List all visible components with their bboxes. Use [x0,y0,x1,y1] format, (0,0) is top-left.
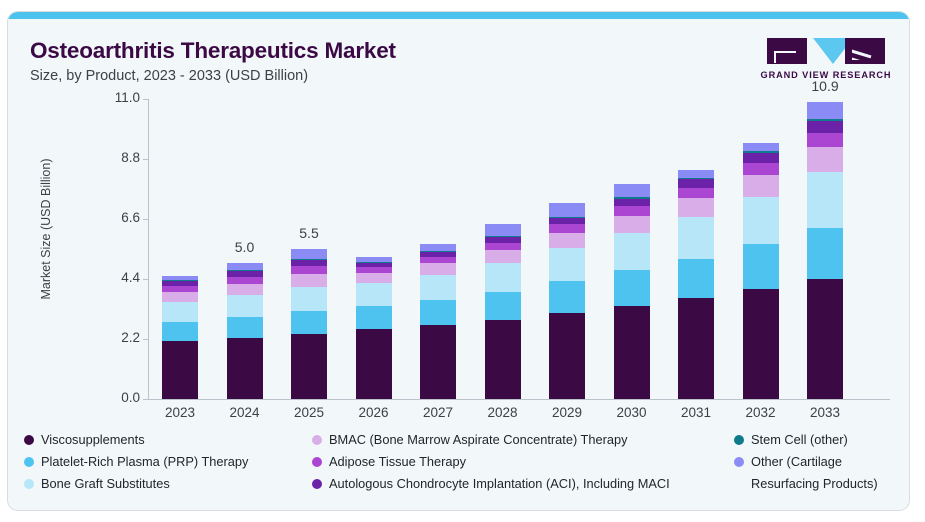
bar-segment[interactable] [291,334,327,399]
y-axis-tick-mark [143,159,149,160]
bar-segment[interactable] [356,306,392,329]
legend-item-label: Autologous Chondrocyte Implantation (ACI… [329,476,670,491]
bar-segment[interactable] [356,257,392,262]
bar-segment[interactable] [614,306,650,399]
legend-item-label: BMAC (Bone Marrow Aspirate Concentrate) … [329,432,627,447]
legend-color-dot [734,457,744,467]
bar-segment[interactable] [807,172,843,228]
bar-segment[interactable] [227,271,263,277]
legend-item-label: Viscosupplements [41,432,145,447]
y-axis-label: Market Size (USD Billion) [39,149,53,309]
bar-segment[interactable] [420,244,456,252]
legend-item-label: Resurfacing Products) [751,476,878,491]
y-axis-line [148,99,149,399]
legend-item-label: Stem Cell (other) [751,432,848,447]
bar-segment[interactable] [420,275,456,300]
bar-segment[interactable] [356,263,392,267]
legend-color-dot [24,479,34,489]
bar-segment[interactable] [678,179,714,187]
bar-segment[interactable] [678,217,714,258]
legend-color-dot [312,435,322,445]
bar-segment[interactable] [162,280,198,281]
bar-2024[interactable] [227,12,263,399]
y-axis-tick-label: 4.4 [82,270,140,285]
bar-segment[interactable] [227,295,263,317]
bar-segment[interactable] [614,197,650,198]
bar-segment[interactable] [549,281,585,313]
bar-2026[interactable] [356,12,392,399]
y-axis-tick-mark [143,279,149,280]
bar-segment[interactable] [807,279,843,399]
bar-2030[interactable] [614,12,650,399]
bar-value-label: 5.0 [215,239,275,255]
bar-segment[interactable] [420,263,456,274]
legend-color-dot [24,457,34,467]
bar-segment[interactable] [227,263,263,270]
bar-2027[interactable] [420,12,456,399]
bar-segment[interactable] [291,260,327,267]
bar-segment[interactable] [743,175,779,197]
chart-card: Osteoarthritis Therapeutics Market Size,… [8,12,909,510]
bar-segment[interactable] [162,281,198,285]
bar-segment[interactable] [356,283,392,306]
x-axis-tick-label: 2023 [150,405,210,420]
bar-segment[interactable] [678,170,714,178]
bar-segment[interactable] [485,250,521,263]
bar-segment[interactable] [807,121,843,133]
legend-item-label: Other (Cartilage [751,454,842,469]
bar-segment[interactable] [162,341,198,399]
bar-segment[interactable] [549,233,585,248]
x-axis-tick-label: 2030 [602,405,662,420]
x-axis-tick-label: 2028 [473,405,533,420]
y-axis-tick-label: 2.2 [82,330,140,345]
bar-segment[interactable] [678,198,714,217]
bar-segment[interactable] [807,119,843,121]
bar-segment[interactable] [162,276,198,280]
bar-segment[interactable] [614,233,650,270]
bar-segment[interactable] [291,311,327,333]
bar-segment[interactable] [291,287,327,312]
bar-segment[interactable] [485,292,521,320]
bar-segment[interactable] [227,338,263,399]
bar-segment[interactable] [420,251,456,252]
bar-2023[interactable] [162,12,198,399]
y-axis-tick-mark [143,399,149,400]
y-axis-tick-mark [143,219,149,220]
bar-segment[interactable] [291,266,327,274]
bar-segment[interactable] [549,218,585,225]
legend-item-label: Platelet-Rich Plasma (PRP) Therapy [41,454,248,469]
legend-color-dot [24,435,34,445]
bar-value-label: 5.5 [279,225,339,241]
bar-segment[interactable] [743,289,779,399]
x-axis-tick-label: 2033 [795,405,855,420]
y-axis-tick-label: 11.0 [82,90,140,105]
bar-segment[interactable] [356,262,392,263]
bar-segment[interactable] [356,329,392,399]
bar-segment[interactable] [614,206,650,215]
x-axis-line [148,399,890,400]
bar-segment[interactable] [420,252,456,257]
bar-2031[interactable] [678,12,714,399]
x-axis-tick-label: 2026 [344,405,404,420]
bar-segment[interactable] [807,102,843,119]
bar-segment[interactable] [356,267,392,272]
bar-segment[interactable] [485,237,521,243]
bar-segment[interactable] [743,153,779,163]
bar-segment[interactable] [807,228,843,279]
bar-segment[interactable] [807,133,843,147]
bar-segment[interactable] [485,236,521,237]
bar-segment[interactable] [614,199,650,207]
bar-segment[interactable] [291,274,327,287]
x-axis-tick-label: 2024 [215,405,275,420]
bar-segment[interactable] [678,259,714,298]
y-axis-tick-label: 6.6 [82,210,140,225]
legend-color-dot [312,457,322,467]
x-axis-tick-label: 2029 [537,405,597,420]
bar-2028[interactable] [485,12,521,399]
bar-2033[interactable] [807,12,843,399]
bar-segment[interactable] [614,216,650,233]
y-axis-tick-mark [143,99,149,100]
bar-segment[interactable] [227,317,263,337]
bar-value-label: 10.9 [795,78,855,94]
bar-segment[interactable] [485,263,521,292]
bar-segment[interactable] [227,284,263,295]
bar-segment[interactable] [227,277,263,284]
bar-segment[interactable] [549,248,585,281]
bar-segment[interactable] [162,322,198,341]
y-axis-tick-mark [143,339,149,340]
legend-item-label: Adipose Tissue Therapy [329,454,466,469]
bar-segment[interactable] [549,203,585,217]
legend-color-dot [734,435,744,445]
bar-segment[interactable] [614,270,650,305]
legend-color-dot [312,479,322,489]
bar-segment[interactable] [162,286,198,292]
bar-segment[interactable] [549,313,585,399]
bar-2029[interactable] [549,12,585,399]
bar-segment[interactable] [162,292,198,302]
bar-segment[interactable] [420,300,456,325]
bar-segment[interactable] [420,325,456,399]
bar-segment[interactable] [549,224,585,232]
bar-segment[interactable] [227,270,263,271]
bar-segment[interactable] [291,259,327,260]
bar-2032[interactable] [743,12,779,399]
bar-segment[interactable] [743,197,779,245]
x-axis-tick-label: 2027 [408,405,468,420]
x-axis-tick-label: 2031 [666,405,726,420]
bar-segment[interactable] [807,147,843,173]
bar-segment[interactable] [485,243,521,250]
x-axis-tick-label: 2032 [731,405,791,420]
bar-segment[interactable] [291,249,327,259]
bar-segment[interactable] [485,224,521,235]
bar-segment[interactable] [549,217,585,218]
bar-segment[interactable] [162,302,198,322]
y-axis-tick-label: 0.0 [82,390,140,405]
bar-segment[interactable] [485,320,521,399]
bar-2025[interactable] [291,12,327,399]
bar-segment[interactable] [356,273,392,283]
bar-segment[interactable] [743,143,779,152]
bar-segment[interactable] [420,257,456,263]
chart-legend: ViscosupplementsPlatelet-Rich Plasma (PR… [24,432,904,504]
y-axis-tick-label: 8.8 [82,150,140,165]
x-axis-tick-label: 2025 [279,405,339,420]
legend-item-label: Bone Graft Substitutes [41,476,170,491]
bar-segment[interactable] [743,244,779,289]
bar-segment[interactable] [678,298,714,399]
bar-segment[interactable] [614,184,650,198]
bar-segment[interactable] [678,188,714,198]
bar-segment[interactable] [743,163,779,175]
bar-segment[interactable] [743,151,779,153]
bar-segment[interactable] [678,178,714,179]
